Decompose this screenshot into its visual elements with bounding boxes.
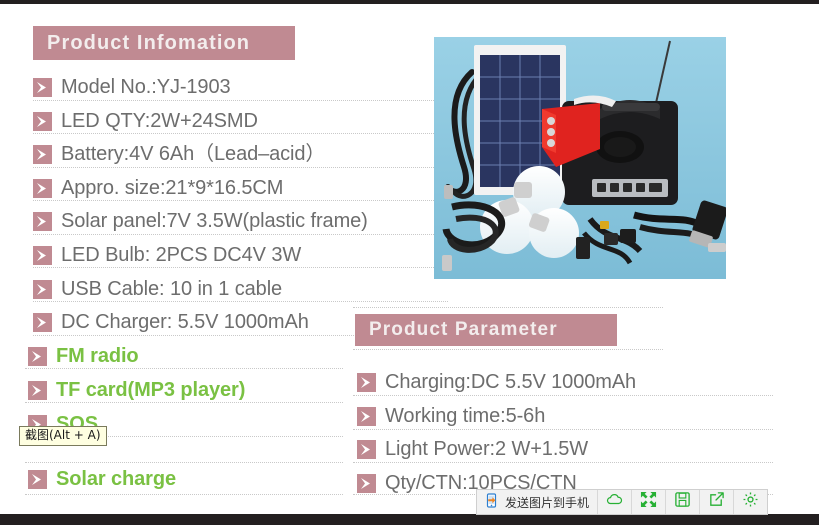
chevron-right-icon xyxy=(357,373,376,392)
spec-row: FM radio xyxy=(28,341,139,371)
product-parameter-heading: Product Parameter xyxy=(355,314,617,346)
spec-text: LED QTY:2W+24SMD xyxy=(61,111,258,131)
spec-text: Battery:4V 6Ah（Lead–acid） xyxy=(61,144,325,164)
spec-row: Charging:DC 5.5V 1000mAh xyxy=(357,367,636,397)
spec-text: Working time:5-6h xyxy=(385,406,545,426)
spec-row: LED Bulb: 2PCS DC4V 3W xyxy=(33,240,301,270)
screenshot-shortcut-tooltip: 截图(Alt + A) xyxy=(19,426,107,446)
chevron-right-icon xyxy=(33,179,52,198)
chevron-right-icon xyxy=(33,112,52,131)
spec-text: FM radio xyxy=(56,346,139,366)
divider xyxy=(353,349,663,351)
send-image-to-phone-label: 发送图片到手机 xyxy=(505,494,589,511)
share-icon xyxy=(708,491,725,513)
share-button[interactable] xyxy=(700,490,734,514)
spec-text: Solar panel:7V 3.5W(plastic frame) xyxy=(61,211,368,231)
save-icon xyxy=(674,491,691,513)
spec-row: Battery:4V 6Ah（Lead–acid） xyxy=(33,139,325,169)
spec-text: Appro. size:21*9*16.5CM xyxy=(61,178,283,198)
product-photo xyxy=(434,37,726,279)
spec-text: USB Cable: 10 in 1 cable xyxy=(61,279,282,299)
chevron-right-icon xyxy=(33,280,52,299)
top-edge-bar xyxy=(0,0,819,4)
chevron-right-icon xyxy=(33,78,52,97)
spec-text: LED Bulb: 2PCS DC4V 3W xyxy=(61,245,301,265)
spec-text: Model No.:YJ-1903 xyxy=(61,77,231,97)
spec-row: Light Power:2 W+1.5W xyxy=(357,434,588,464)
spec-row: Solar charge xyxy=(28,464,176,494)
chevron-right-icon xyxy=(28,347,47,366)
chevron-right-icon xyxy=(28,381,47,400)
settings-icon xyxy=(742,491,759,513)
product-information-heading: Product Infomation xyxy=(33,26,295,60)
page-canvas: Product Infomation Model No.:YJ-1903 LED… xyxy=(0,0,819,525)
spec-row: Appro. size:21*9*16.5CM xyxy=(33,173,283,203)
spec-row: DC Charger: 5.5V 1000mAh xyxy=(33,307,309,337)
chevron-right-icon xyxy=(33,246,52,265)
chevron-right-icon xyxy=(28,470,47,489)
chevron-right-icon xyxy=(357,407,376,426)
expand-icon xyxy=(640,491,657,513)
chevron-right-icon xyxy=(33,212,52,231)
spec-text: Solar charge xyxy=(56,469,176,489)
chevron-right-icon xyxy=(357,440,376,459)
spec-row: Model No.:YJ-1903 xyxy=(33,72,231,102)
spec-row: USB Cable: 10 in 1 cable xyxy=(33,274,282,304)
spec-text: TF card(MP3 player) xyxy=(56,380,245,400)
chevron-right-icon xyxy=(33,145,52,164)
cloud-button[interactable] xyxy=(598,490,632,514)
save-button[interactable] xyxy=(666,490,700,514)
spec-text: Charging:DC 5.5V 1000mAh xyxy=(385,372,636,392)
solar-kit-illustration xyxy=(434,37,726,279)
screenshot-toolbar[interactable]: 发送图片到手机 xyxy=(476,489,768,515)
expand-button[interactable] xyxy=(632,490,666,514)
spec-text: Light Power:2 W+1.5W xyxy=(385,439,588,459)
cloud-icon xyxy=(606,491,623,513)
send-to-phone-icon xyxy=(484,493,499,511)
send-image-to-phone-button[interactable]: 发送图片到手机 xyxy=(477,490,598,514)
divider xyxy=(353,307,663,309)
settings-button[interactable] xyxy=(734,490,767,514)
chevron-right-icon xyxy=(357,474,376,493)
divider xyxy=(25,494,343,496)
spec-row: TF card(MP3 player) xyxy=(28,375,245,405)
spec-text: DC Charger: 5.5V 1000mAh xyxy=(61,312,309,332)
chevron-right-icon xyxy=(33,313,52,332)
bottom-edge-bar xyxy=(0,514,819,525)
spec-row: LED QTY:2W+24SMD xyxy=(33,106,258,136)
spec-row: Solar panel:7V 3.5W(plastic frame) xyxy=(33,206,368,236)
spec-row: Working time:5-6h xyxy=(357,401,545,431)
